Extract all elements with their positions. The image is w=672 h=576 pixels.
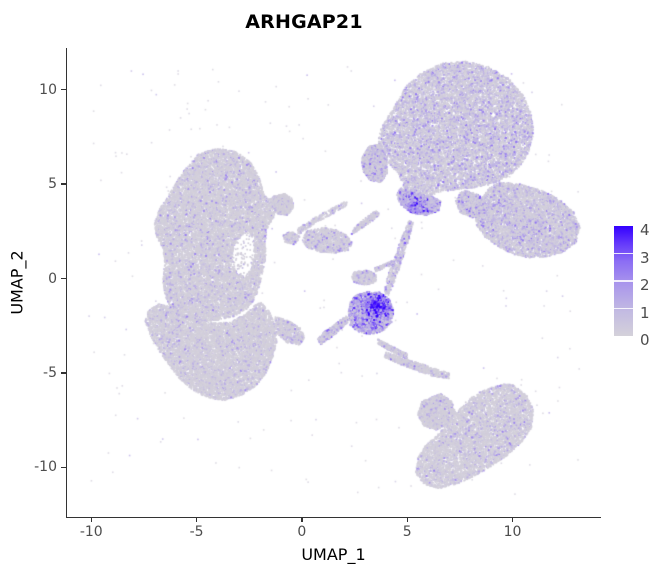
y-tick-mark <box>61 89 66 90</box>
x-axis-title: UMAP_1 <box>66 545 601 564</box>
y-tick-mark <box>61 183 66 184</box>
x-tick-label: -5 <box>190 524 204 540</box>
y-tick-label: 5 <box>48 176 57 192</box>
umap-feature-plot: ARHGAP21 1050-5-10-10-50510 UMAP_1 UMAP_… <box>0 0 672 576</box>
x-axis-spine <box>66 517 601 518</box>
y-tick-label: -5 <box>43 365 57 381</box>
colorbar-tick-label: 4 <box>640 221 650 239</box>
scatter-plot-canvas <box>0 0 672 576</box>
y-tick-mark <box>61 278 66 279</box>
expression-colorbar-legend: 43210 <box>614 226 672 338</box>
colorbar-tick-label: 3 <box>640 249 650 267</box>
x-tick-label: 0 <box>297 524 306 540</box>
x-tick-mark <box>407 517 408 522</box>
colorbar-tick-mark <box>614 253 633 254</box>
x-tick-mark <box>512 517 513 522</box>
colorbar-tick-mark <box>614 308 633 309</box>
x-tick-label: 10 <box>504 524 522 540</box>
x-tick-mark <box>196 517 197 522</box>
x-tick-mark <box>91 517 92 522</box>
y-tick-mark <box>61 372 66 373</box>
x-tick-label: -10 <box>80 524 103 540</box>
y-axis-title: UMAP_2 <box>8 183 27 383</box>
y-axis-spine <box>66 48 67 518</box>
colorbar-tick-label: 1 <box>640 304 650 322</box>
y-tick-label: 10 <box>39 82 57 98</box>
colorbar-tick-mark <box>614 280 633 281</box>
y-tick-label: 0 <box>48 271 57 287</box>
colorbar-tick-label: 0 <box>640 331 650 349</box>
x-tick-label: 5 <box>403 524 412 540</box>
x-tick-mark <box>301 517 302 522</box>
y-tick-label: -10 <box>34 459 57 475</box>
y-tick-mark <box>61 467 66 468</box>
colorbar-tick-label: 2 <box>640 276 650 294</box>
